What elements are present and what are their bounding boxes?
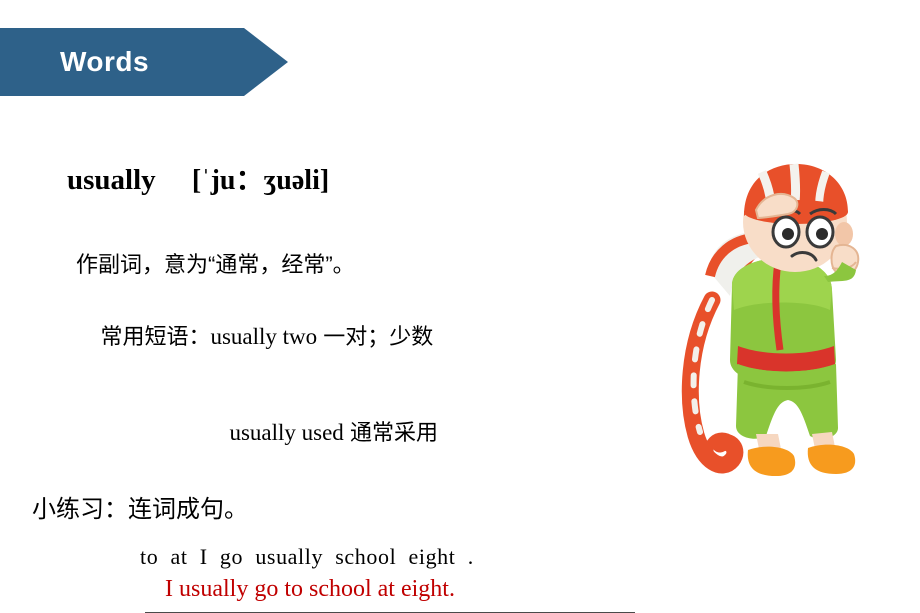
cartoon-boy-saluting-icon — [660, 150, 900, 490]
phrase-2-english: usually used — [229, 420, 343, 445]
common-phrases-line-2: usually used 通常采用 — [0, 389, 700, 473]
answer-sentence: I usually go to school at eight. — [140, 576, 455, 603]
headword: usually — [67, 164, 156, 196]
phrase-1-chinese: 一对；少数 — [323, 324, 433, 349]
exercise-label: 小练习：连词成句。 — [0, 489, 700, 524]
lesson-content: usually [ˈju：ʒuəli] 作副词，意为“通常，经常”。 常用短语：… — [0, 125, 700, 603]
phrase-1-english: usually two — [210, 324, 317, 349]
vocabulary-headword-line: usually [ˈju：ʒuəli] — [0, 125, 700, 231]
section-banner: Words — [0, 28, 288, 96]
phonetic-transcription: [ˈju：ʒuəli] — [192, 165, 329, 196]
common-phrases-line-1: 常用短语：usually two 一对；少数 — [0, 293, 700, 377]
scrambled-sentence: to at I go usually school eight . — [0, 544, 700, 570]
page-title: Words — [60, 46, 149, 78]
definition-line: 作副词，意为“通常，经常”。 — [0, 247, 700, 279]
common-phrases-label: 常用短语： — [100, 324, 210, 349]
headword-spacer — [156, 164, 192, 196]
answer-block: I usually go to school at eight. — [0, 576, 700, 603]
phrase-2-chinese: 通常采用 — [350, 420, 438, 445]
